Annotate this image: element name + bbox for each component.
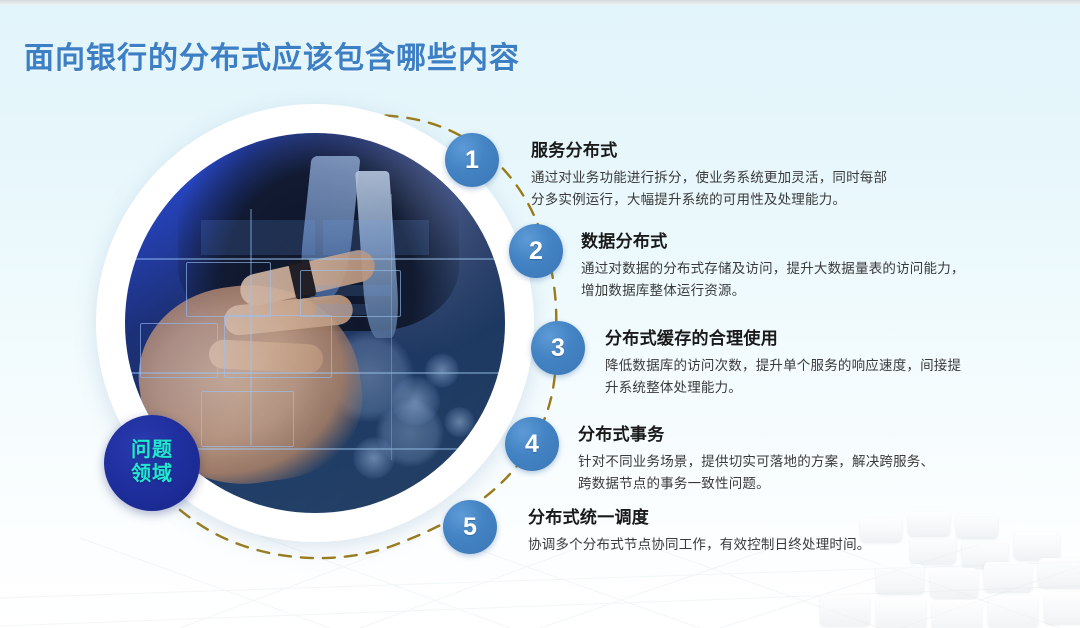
step-item-1: 服务分布式 通过对业务功能进行拆分，使业务系统更加灵活，同时每部 分多实例运行，… <box>531 140 961 211</box>
step-item-4: 分布式事务 针对不同业务场景，提供切实可落地的方案，解决跨服务、 跨数据节点的事… <box>578 424 1018 495</box>
problem-domain-label-line1: 问题 <box>131 439 173 463</box>
step-title-1: 服务分布式 <box>531 140 961 162</box>
step-desc-2: 通过对数据的分布式存储及访问，提升大数据量表的访问能力， 增加数据库整体运行资源… <box>581 258 1031 302</box>
top-strip <box>0 0 1080 5</box>
step-title-5: 分布式统一调度 <box>528 507 978 529</box>
step-title-4: 分布式事务 <box>578 424 1018 446</box>
step-badge-3[interactable]: 3 <box>531 321 585 375</box>
step-desc-3: 降低数据库的访问次数，提升单个服务的响应速度，间接提 升系统整体处理能力。 <box>605 355 1045 399</box>
step-item-5: 分布式统一调度 协调多个分布式节点协同工作，有效控制日终处理时间。 <box>528 507 978 556</box>
step-item-3: 分布式缓存的合理使用 降低数据库的访问次数，提升单个服务的响应速度，间接提 升系… <box>605 328 1045 399</box>
step-title-3: 分布式缓存的合理使用 <box>605 328 1045 350</box>
step-badge-4[interactable]: 4 <box>505 417 559 471</box>
step-badge-5[interactable]: 5 <box>443 500 497 554</box>
step-badge-1[interactable]: 1 <box>445 133 499 187</box>
slide-canvas: 面向银行的分布式应该包含哪些内容 <box>0 0 1080 628</box>
page-title: 面向银行的分布式应该包含哪些内容 <box>24 33 520 77</box>
step-badge-2[interactable]: 2 <box>509 224 563 278</box>
step-desc-1: 通过对业务功能进行拆分，使业务系统更加灵活，同时每部 分多实例运行，大幅提升系统… <box>531 167 961 211</box>
problem-domain-label-line2: 领域 <box>131 463 173 487</box>
step-item-2: 数据分布式 通过对数据的分布式存储及访问，提升大数据量表的访问能力， 增加数据库… <box>581 231 1031 302</box>
step-desc-5: 协调多个分布式节点协同工作，有效控制日终处理时间。 <box>528 534 978 556</box>
step-title-2: 数据分布式 <box>581 231 1031 253</box>
problem-domain-badge: 问题 领域 <box>104 415 200 511</box>
step-desc-4: 针对不同业务场景，提供切实可落地的方案，解决跨服务、 跨数据节点的事务一致性问题… <box>578 451 1018 495</box>
